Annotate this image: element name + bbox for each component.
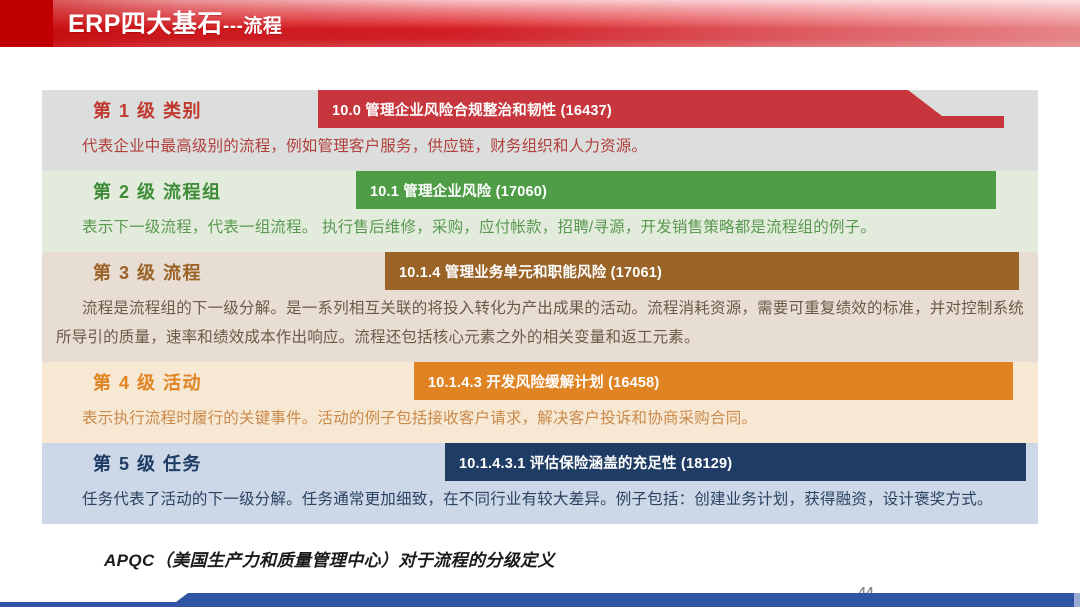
page-title-sub: 流程	[243, 16, 282, 37]
bottom-bar-blue	[0, 593, 1074, 607]
level-band-header: 第 5 级 任务10.1.4.3.1 评估保险涵盖的充足性 (18129)	[42, 443, 1038, 481]
level-band-header: 第 1 级 类别10.0 管理企业风险合规整治和韧性 (16437)	[42, 90, 1038, 128]
level-band-header: 第 2 级 流程组10.1 管理企业风险 (17060)	[42, 171, 1038, 209]
level-band: 第 3 级 流程10.1.4 管理业务单元和职能风险 (17061)流程是流程组…	[42, 252, 1038, 362]
level-description: 表示执行流程时履行的关键事件。活动的例子包括接收客户请求，解决客户投诉和协商采购…	[42, 400, 1038, 443]
bottom-decoration-bar	[0, 589, 1080, 607]
level-description-text: 表示下一级流程，代表一组流程。 执行售后维修，采购，应付帐款，招聘/寻源，开发销…	[82, 219, 876, 236]
level-tag-bar[interactable]: 10.1.4.3 开发风险缓解计划 (16458)	[414, 362, 1013, 400]
level-tag-text: 10.1 管理企业风险 (17060)	[370, 180, 547, 201]
level-label: 第 4 级 活动	[93, 369, 202, 395]
level-description: 任务代表了活动的下一级分解。任务通常更加细致，在不同行业有较大差异。例子包括：创…	[42, 481, 1038, 524]
level-band: 第 5 级 任务10.1.4.3.1 评估保险涵盖的充足性 (18129)任务代…	[42, 443, 1038, 524]
level-tag-text: 10.1.4 管理业务单元和职能风险 (17061)	[399, 261, 662, 282]
header-left-accent-block	[0, 0, 53, 47]
page-title: ERP四大基石---流程	[68, 6, 282, 42]
level-description-text: 表示执行流程时履行的关键事件。活动的例子包括接收客户请求，解决客户投诉和协商采购…	[82, 410, 757, 427]
level-tag-bar[interactable]: 10.1.4.3.1 评估保险涵盖的充足性 (18129)	[445, 443, 1026, 481]
level-tag-bar[interactable]: 10.1 管理企业风险 (17060)	[356, 171, 996, 209]
level-label: 第 2 级 流程组	[93, 178, 222, 204]
apqc-level-panel: 第 1 级 类别10.0 管理企业风险合规整治和韧性 (16437)代表企业中最…	[42, 90, 1038, 524]
level-band: 第 4 级 活动10.1.4.3 开发风险缓解计划 (16458)表示执行流程时…	[42, 362, 1038, 443]
bottom-bar-right-edge	[1074, 593, 1080, 607]
level-tag-text: 10.0 管理企业风险合规整治和韧性 (16437)	[332, 99, 612, 120]
level-description-text: 任务代表了活动的下一级分解。任务通常更加细致，在不同行业有较大差异。例子包括：创…	[82, 491, 993, 508]
level-tag-text: 10.1.4.3 开发风险缓解计划 (16458)	[428, 371, 659, 392]
level-description: 表示下一级流程，代表一组流程。 执行售后维修，采购，应付帐款，招聘/寻源，开发销…	[42, 209, 1038, 252]
page-title-separator: ---	[223, 16, 243, 37]
level-tag-bar[interactable]: 10.1.4 管理业务单元和职能风险 (17061)	[385, 252, 1019, 290]
level-description: 代表企业中最高级别的流程，例如管理客户服务，供应链，财务组织和人力资源。	[42, 128, 1038, 171]
footer-caption: APQC（美国生产力和质量管理中心）对于流程的分级定义	[104, 546, 555, 571]
level-band-header: 第 3 级 流程10.1.4 管理业务单元和职能风险 (17061)	[42, 252, 1038, 290]
level-label: 第 5 级 任务	[93, 450, 202, 476]
level-band: 第 1 级 类别10.0 管理企业风险合规整治和韧性 (16437)代表企业中最…	[42, 90, 1038, 171]
level-label: 第 1 级 类别	[93, 97, 202, 123]
level-band-header: 第 4 级 活动10.1.4.3 开发风险缓解计划 (16458)	[42, 362, 1038, 400]
level-description: 流程是流程组的下一级分解。是一系列相互关联的将投入转化为产出成果的活动。流程消耗…	[42, 290, 1038, 362]
level-label: 第 3 级 流程	[93, 259, 202, 285]
level-tag-tail	[884, 90, 1004, 128]
level-band: 第 2 级 流程组10.1 管理企业风险 (17060)表示下一级流程，代表一组…	[42, 171, 1038, 252]
slide-header: ERP四大基石---流程	[0, 0, 1080, 47]
level-description-text: 代表企业中最高级别的流程，例如管理客户服务，供应链，财务组织和人力资源。	[82, 138, 647, 155]
level-tag-bar[interactable]: 10.0 管理企业风险合规整治和韧性 (16437)	[318, 90, 884, 128]
level-description-text: 流程是流程组的下一级分解。是一系列相互关联的将投入转化为产出成果的活动。流程消耗…	[56, 300, 1024, 346]
level-tag-text: 10.1.4.3.1 评估保险涵盖的充足性 (18129)	[459, 452, 732, 473]
page-title-main: ERP四大基石	[68, 10, 223, 38]
